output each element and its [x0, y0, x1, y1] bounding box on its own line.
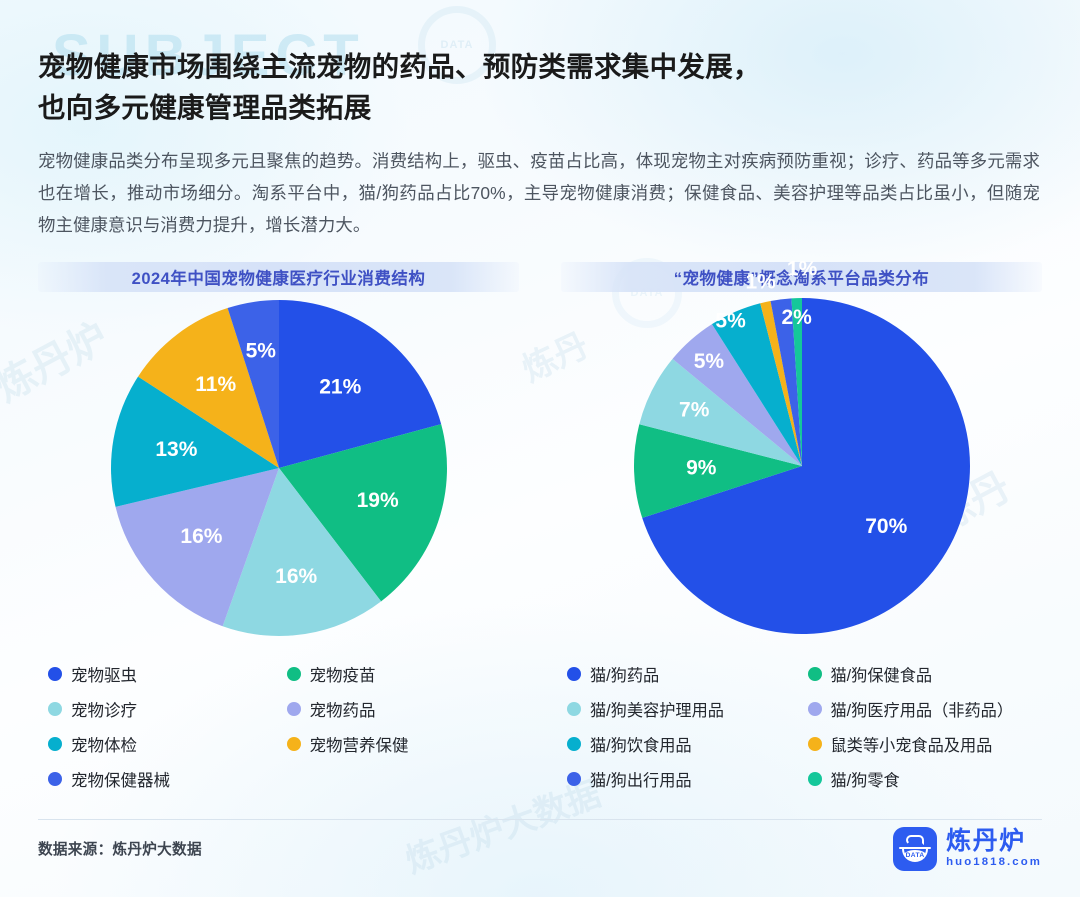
pie-slice-label: 1% — [786, 257, 817, 280]
legend-label: 猫/狗保健食品 — [831, 662, 933, 686]
pie-slice-label: 5% — [715, 309, 746, 332]
brand-url: huo1818.com — [946, 856, 1042, 868]
summary-paragraph: 宠物健康品类分布呈现多元且聚焦的趋势。消费结构上，驱虫、疫苗占比高，体现宠物主对… — [38, 145, 1042, 242]
pie-slice-label: 13% — [155, 437, 197, 460]
legend-color-dot — [287, 737, 301, 751]
pie-slice-label: 11% — [195, 372, 236, 395]
legend-item[interactable]: 宠物诊疗 — [48, 697, 281, 721]
legend-label: 猫/狗美容护理用品 — [590, 697, 724, 721]
page-title: 宠物健康市场围绕主流宠物的药品、预防类需求集中发展， 也向多元健康管理品类拓展 — [38, 0, 1042, 129]
legend-color-dot — [567, 737, 581, 751]
infographic-page: 宠物健康市场围绕主流宠物的药品、预防类需求集中发展， 也向多元健康管理品类拓展 … — [0, 0, 1080, 791]
legend-item[interactable]: 猫/狗饮食用品 — [567, 732, 802, 756]
page-title-line-1: 宠物健康市场围绕主流宠物的药品、预防类需求集中发展， — [38, 51, 761, 82]
legend-color-dot — [48, 772, 62, 786]
pie-slice-label: 19% — [356, 489, 398, 512]
pie-slice-label: 16% — [180, 525, 222, 548]
chart-taobao-distribution: “宠物健康”概念淘系平台品类分布 70%9%7%5%5%1%2%1% 猫/狗药品… — [561, 262, 1042, 791]
legend-color-dot — [567, 667, 581, 681]
chart-consumption-structure: 2024年中国宠物健康医疗行业消费结构 21%19%16%16%13%11%5%… — [38, 262, 519, 791]
legend-left: 宠物驱虫宠物疫苗宠物诊疗宠物药品宠物体检宠物营养保健宠物保健器械 — [38, 662, 519, 791]
legend-label: 猫/狗零食 — [831, 767, 900, 791]
legend-item[interactable]: 鼠类等小宠食品及用品 — [808, 732, 1043, 756]
legend-item[interactable]: 宠物药品 — [287, 697, 520, 721]
legend-label: 猫/狗药品 — [590, 662, 659, 686]
legend-label: 猫/狗出行用品 — [590, 767, 692, 791]
pie-chart-right: 70%9%7%5%5%1%2%1% — [561, 296, 1042, 656]
pie-slice-label: 1% — [745, 270, 776, 293]
legend-color-dot — [808, 737, 822, 751]
legend-item[interactable]: 宠物体检 — [48, 732, 281, 756]
legend-color-dot — [808, 702, 822, 716]
legend-item[interactable]: 宠物营养保健 — [287, 732, 520, 756]
legend-label: 猫/狗饮食用品 — [590, 732, 692, 756]
legend-label: 宠物疫苗 — [310, 662, 376, 686]
legend-label: 宠物营养保健 — [310, 732, 409, 756]
pie-slice-label: 5% — [693, 350, 724, 373]
legend-right: 猫/狗药品猫/狗保健食品猫/狗美容护理用品猫/狗医疗用品（非药品）猫/狗饮食用品… — [561, 662, 1042, 791]
pie-slice-label: 5% — [245, 339, 276, 362]
legend-color-dot — [808, 772, 822, 786]
pie-slice-label: 7% — [679, 398, 710, 421]
pie-slice-label: 21% — [319, 375, 361, 398]
legend-color-dot — [287, 667, 301, 681]
legend-color-dot — [48, 737, 62, 751]
brand-logo[interactable]: DATA 炼丹炉 huo1818.com — [893, 827, 1042, 871]
pie-left-svg: 21%19%16%16%13%11%5% — [99, 296, 459, 646]
legend-item[interactable]: 猫/狗零食 — [808, 767, 1043, 791]
brand-mark-icon: DATA — [893, 827, 937, 871]
legend-item[interactable]: 宠物保健器械 — [48, 767, 281, 791]
page-title-line-2: 也向多元健康管理品类拓展 — [38, 87, 1042, 128]
legend-item[interactable]: 宠物驱虫 — [48, 662, 281, 686]
legend-label: 宠物体检 — [71, 732, 137, 756]
pie-slice-label: 9% — [686, 456, 717, 479]
legend-item[interactable]: 猫/狗美容护理用品 — [567, 697, 802, 721]
legend-color-dot — [48, 702, 62, 716]
smoke-icon — [906, 835, 924, 845]
brand-name: 炼丹炉 — [946, 829, 1042, 855]
legend-color-dot — [567, 772, 581, 786]
pie-slice-label: 70% — [865, 514, 907, 537]
charts-row: 2024年中国宠物健康医疗行业消费结构 21%19%16%16%13%11%5%… — [38, 262, 1042, 791]
legend-color-dot — [567, 702, 581, 716]
legend-color-dot — [287, 702, 301, 716]
legend-label: 猫/狗医疗用品（非药品） — [831, 697, 1014, 721]
legend-color-dot — [48, 667, 62, 681]
legend-item[interactable]: 宠物疫苗 — [287, 662, 520, 686]
chart-title-left: 2024年中国宠物健康医疗行业消费结构 — [38, 262, 519, 292]
pie-slice-label: 16% — [275, 565, 317, 588]
legend-label: 宠物保健器械 — [71, 767, 170, 791]
pie-chart-left: 21%19%16%16%13%11%5% — [38, 296, 519, 656]
pie-slice-label: 2% — [781, 306, 812, 329]
pie-right-svg: 70%9%7%5%5%1%2%1% — [612, 296, 992, 646]
legend-color-dot — [808, 667, 822, 681]
legend-item[interactable]: 猫/狗药品 — [567, 662, 802, 686]
legend-label: 鼠类等小宠食品及用品 — [831, 732, 993, 756]
legend-label: 宠物驱虫 — [71, 662, 137, 686]
legend-item[interactable]: 猫/狗出行用品 — [567, 767, 802, 791]
legend-label: 宠物药品 — [310, 697, 376, 721]
brand-badge-label: DATA — [904, 850, 926, 860]
brand-text: 炼丹炉 huo1818.com — [946, 829, 1042, 868]
legend-label: 宠物诊疗 — [71, 697, 137, 721]
data-source-label: 数据来源：炼丹炉大数据 — [38, 838, 202, 859]
legend-item[interactable]: 猫/狗医疗用品（非药品） — [808, 697, 1043, 721]
footer: 数据来源：炼丹炉大数据 DATA 炼丹炉 huo1818.com — [38, 819, 1042, 877]
legend-item[interactable]: 猫/狗保健食品 — [808, 662, 1043, 686]
